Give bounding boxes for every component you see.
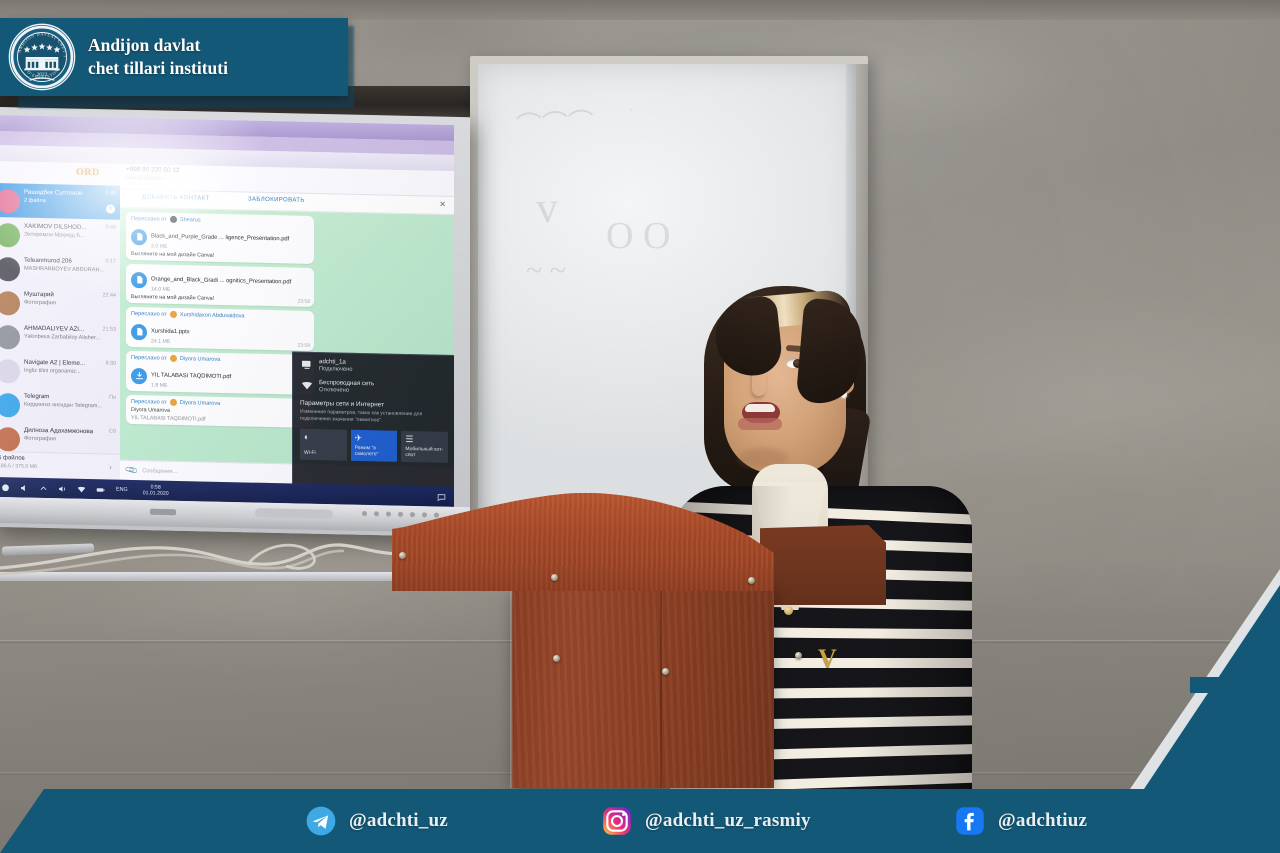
network-flyout-panel[interactable]: adchti_1a Подключено Беспроводная сеть О… (292, 352, 454, 491)
instagram-icon (602, 806, 632, 836)
message-caption: Выгляните на мой дизайн Canva! (131, 294, 309, 304)
telegram-sidebar: ORD Рашидбек Султонов 2 файла 0:39 9 (0, 161, 120, 480)
social-telegram[interactable]: @adchti_uz (306, 806, 448, 836)
document-icon (131, 228, 147, 244)
file-name: Black_and_Purple_Grade ... ligence_Prese… (151, 233, 289, 242)
avatar (0, 427, 20, 452)
wifi-toggle-tile[interactable]: ◐ Wi-Fi (300, 428, 347, 460)
list-item[interactable]: Муштарий Фотография 22:44 (0, 285, 120, 322)
chat-preview: 2 файла (24, 198, 116, 206)
message-time: 23:58 (297, 299, 310, 305)
monitor-icon (300, 358, 313, 371)
quick-action-tiles: ◐ Wi-Fi ✈ Режим "в самолете" ☰ Мобильный… (300, 428, 448, 462)
file-name: YIL TALABASI TAQDIMOTI.pdf (151, 372, 231, 380)
chat-preview: MASHRABBOYEV ABDURAH... (24, 266, 116, 274)
wifi-icon: ◐ (304, 431, 343, 442)
angled-seven-mark-icon (1130, 569, 1280, 789)
file-size: 24.1 МБ (151, 338, 190, 345)
forward-source: Diyora Umarova (180, 356, 220, 363)
telegram-search-row[interactable]: ORD (0, 161, 120, 186)
start-icon[interactable] (0, 482, 10, 492)
wifi-status: Подключено (319, 366, 353, 373)
avatar (0, 257, 20, 282)
windows-desktop: ORD Рашидбек Султонов 2 файла 0:39 9 (0, 115, 454, 507)
message-bubble[interactable]: Переслано от Xurshidaxon Abdusaidova Xur… (126, 307, 314, 351)
chat-time: Сб (109, 429, 116, 435)
chevron-up-icon[interactable] (38, 483, 48, 493)
wifi-connection-row[interactable]: adchti_1a Подключено (300, 358, 448, 375)
podium-left-edge (510, 588, 514, 788)
speaker-icon[interactable] (57, 483, 67, 493)
social-facebook[interactable]: @adchtiuz (955, 806, 1087, 836)
chat-time: 22:44 (103, 292, 117, 298)
chat-name: Navigate A2 | Eleme... (24, 359, 116, 368)
wireless-label: Беспроводная сеть (319, 379, 374, 387)
chat-time: 21:53 (103, 326, 117, 332)
message-time: 23:58 (297, 343, 310, 349)
chat-preview: Yakinbexa Zarbabiloy Alisher... (24, 334, 116, 342)
message-bubble[interactable]: Переслано от Shearus Black_and_Purple_Gr… (126, 212, 314, 264)
chat-name: Telegram (24, 393, 116, 402)
ord-watermark: ORD (76, 167, 100, 179)
airplane-mode-tile[interactable]: ✈ Режим "в самолете" (351, 429, 398, 461)
tile-label: Мобильный хот-спот (405, 447, 448, 459)
chat-time: 0:39 (106, 190, 117, 196)
chat-preview: Кирдингиз янгидан Telegram... (24, 402, 116, 410)
composer-placeholder: Сообщение... (142, 468, 177, 475)
tile-label: Режим "в самолете" (355, 446, 398, 458)
podium-screw (399, 552, 406, 559)
avatar (170, 355, 177, 362)
chat-time: 0:17 (106, 258, 117, 264)
wifi-icon (300, 379, 313, 392)
list-item[interactable]: AHMADALIYEV AZI... Yakinbexa Zarbabiloy … (0, 319, 120, 356)
block-contact-button[interactable]: ЗАБЛОКИРОВАТЬ (248, 197, 305, 204)
wifi-ssid: adchti_1a (319, 358, 353, 366)
chat-status: был(а) недавно (126, 175, 165, 182)
podium-screw (551, 574, 558, 581)
podium-body-seam (660, 588, 662, 788)
storage-count: 6 файлов (0, 455, 114, 464)
chat-preview: Фотография (24, 436, 116, 444)
seal-year: 2022 (37, 72, 48, 78)
list-item[interactable]: Teleanmurod 206 MASHRABBOYEV ABDURAH... … (0, 251, 120, 288)
wireless-network-row[interactable]: Беспроводная сеть Отключено (300, 379, 448, 396)
message-bubble[interactable]: Переслано от Diyora Umarova YIL TALABASI… (126, 351, 314, 395)
airplane-icon: ✈ (355, 432, 394, 444)
message-bubble[interactable]: Orange_and_Black_Gradi ... ognitics_Pres… (126, 264, 314, 307)
tile-label: Wi-Fi (304, 451, 316, 457)
forward-source: Diyora Umarova (180, 400, 220, 407)
hotspot-icon: ☰ (405, 433, 444, 445)
battery-icon[interactable] (95, 484, 105, 494)
podium-screw (553, 655, 560, 662)
chat-preview: Фотография (24, 300, 116, 308)
avatar (0, 189, 20, 214)
taskbar-clock[interactable]: 0:58 01.01.2020 (143, 484, 169, 498)
chat-time: 0:48 (106, 224, 117, 230)
facebook-icon (955, 806, 985, 836)
chat-time: 8:30 (106, 360, 117, 366)
hotspot-tile[interactable]: ☰ Мобильный хот-спот (401, 430, 448, 462)
close-icon[interactable]: ✕ (439, 200, 446, 209)
message-caption: Выгляните на мой дизайн Canva! (131, 251, 309, 261)
avatar (0, 393, 20, 418)
avatar (170, 216, 177, 223)
screenshot-root: ⌒⌒⌒ v O O ~ ~ · ORD (0, 0, 1280, 853)
chat-name: Рашидбек Султонов (24, 189, 116, 198)
file-name: Xurshida1.pptx (151, 328, 190, 335)
chat-name: XAKIMOV DILSHOD... (24, 223, 116, 232)
language-indicator[interactable]: ENG (116, 487, 128, 493)
avatar (0, 325, 20, 350)
podium-screw (662, 668, 669, 675)
instagram-handle: @adchti_uz_rasmiy (645, 810, 811, 832)
institute-header-badge: ANDIJON DAVLAT CHET TILLARI INSTITUTI O'… (0, 18, 348, 96)
list-item[interactable]: XAKIMOV DILSHOD... Эхтиромли Маҳмуд Б...… (0, 217, 120, 254)
volume-icon[interactable] (19, 483, 29, 493)
document-icon (131, 323, 147, 339)
wall-display-screen[interactable]: ORD Рашидбек Султонов 2 файла 0:39 9 (0, 115, 454, 507)
chat-name: Дилноза Адахамжонова (24, 427, 116, 436)
lower-lip (738, 418, 782, 430)
institute-name-line1: Andijon davlat (88, 34, 228, 57)
cardigan-button (784, 606, 793, 615)
clock-date: 01.01.2020 (143, 490, 169, 497)
document-icon (131, 271, 147, 287)
download-icon[interactable] (131, 367, 147, 383)
telegram-icon (306, 806, 336, 836)
chat-preview: Ingliz tilini organamiz... (24, 368, 116, 376)
chat-name: Teleanmurod 206 (24, 257, 116, 266)
chat-preview: Эхтиромли Маҳмуд Б... (24, 232, 116, 240)
sidebar-storage-footer[interactable]: 6 файлов 186.5 / 375.0 Мб › (0, 451, 120, 480)
wireless-status: Отключено (319, 387, 374, 394)
storage-size: 186.5 / 375.0 Мб (0, 463, 114, 472)
institute-name: Andijon davlat chet tillari instituti (88, 34, 228, 81)
chat-bubble-icon[interactable] (436, 492, 446, 502)
social-instagram[interactable]: @adchti_uz_rasmiy (602, 806, 811, 836)
avatar (0, 291, 20, 316)
institute-seal-icon: ANDIJON DAVLAT CHET TILLARI INSTITUTI O'… (8, 23, 76, 91)
file-name: Orange_and_Black_Gradi ... ognitics_Pres… (151, 276, 291, 285)
chat-time: Пн (109, 395, 116, 401)
paperclip-icon[interactable]: 📎 (124, 463, 139, 478)
cables (0, 524, 420, 578)
brand-monogram-icon: V (818, 646, 848, 672)
unread-badge: 9 (106, 204, 115, 213)
network-settings-desc: Изменение параметров, таких как установл… (300, 409, 448, 426)
list-item[interactable]: Рашидбек Султонов 2 файла 0:39 9 (0, 183, 120, 220)
forward-source: Xurshidaxon Abdusaidova (180, 312, 245, 319)
wall-top-band (0, 0, 1280, 20)
facebook-handle: @adchtiuz (998, 810, 1087, 832)
chat-title: +998 90 220 50 12 (126, 166, 179, 174)
institute-name-line2: chet tillari instituti (88, 57, 228, 80)
telegram-handle: @adchti_uz (349, 810, 448, 832)
podium-screw (795, 652, 802, 659)
forward-source: Shearus (180, 217, 201, 223)
podium-body-grain (512, 588, 774, 788)
avatar (0, 359, 20, 384)
avatar (0, 223, 20, 248)
avatar (170, 311, 177, 318)
chevron-right-icon[interactable]: › (109, 462, 112, 472)
file-size: 1.8 МБ (151, 382, 231, 390)
display-brand-slot (150, 509, 176, 516)
podium-side-panel (760, 525, 886, 605)
message-bubble[interactable]: Переслано от Diyora Umarova Diyora Umaro… (126, 395, 314, 428)
message-file-ref: YIL TALABASI TAQDIMOTI.pdf (131, 415, 309, 425)
podium-screw (748, 577, 755, 584)
add-contact-button[interactable]: ДОБАВИТЬ КОНТАКТ (142, 194, 210, 201)
display-speaker-grille (255, 508, 333, 519)
list-item[interactable]: Telegram Кирдингиз янгидан Telegram... П… (0, 387, 120, 424)
list-item[interactable]: Navigate A2 | Eleme... Ingliz tilini org… (0, 353, 120, 390)
avatar (170, 399, 177, 406)
network-icon[interactable] (76, 484, 86, 494)
